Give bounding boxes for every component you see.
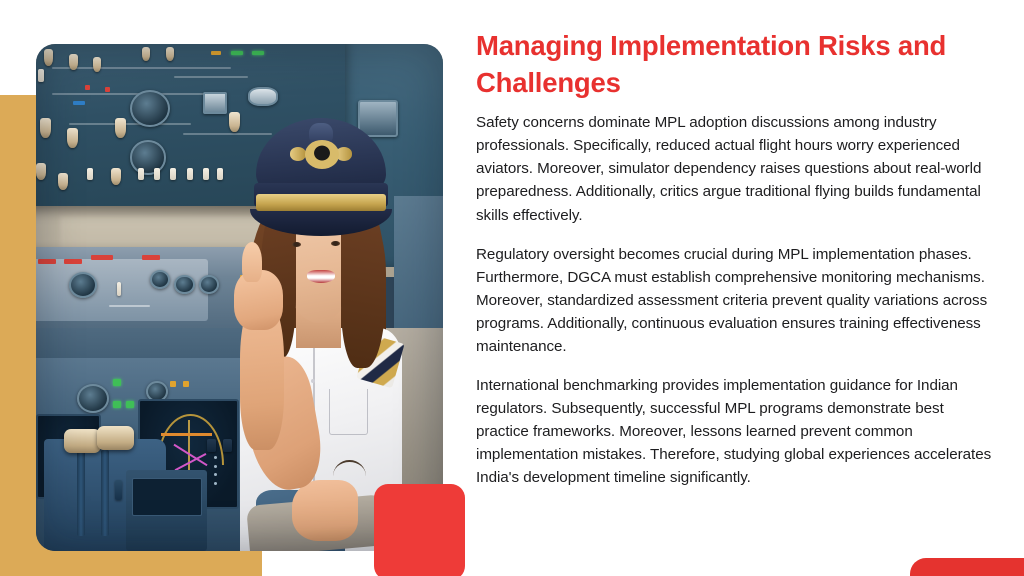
body-paragraph-3: International benchmarking provides impl…	[476, 374, 992, 489]
panel-lever	[117, 282, 121, 296]
panel-gauge	[174, 275, 194, 294]
thumbs-up-gesture	[242, 242, 262, 283]
panel-label-lamp	[142, 255, 160, 260]
panel-line	[52, 93, 207, 95]
keypad-screen	[132, 478, 202, 516]
pedestal-lever	[115, 480, 122, 500]
cap-gold-band	[256, 194, 386, 211]
overhead-switch-knob	[93, 57, 101, 72]
toggle-switch	[203, 168, 209, 180]
indicator-lamp	[170, 381, 176, 387]
indicator-lamp	[113, 379, 121, 386]
overhead-switch-knob	[40, 118, 51, 138]
throttle-stem	[101, 450, 109, 536]
photo-illustration	[36, 44, 443, 551]
panel-label-lamp	[38, 259, 56, 264]
pilot-eye	[292, 242, 301, 247]
body-paragraph-1: Safety concerns dominate MPL adoption di…	[476, 111, 992, 226]
wrist-cord	[333, 460, 366, 492]
overhead-switch-knob	[36, 163, 46, 180]
throttle-lever	[64, 429, 101, 452]
red-accent-square	[374, 484, 465, 576]
flight-management-keypad	[126, 470, 207, 551]
toggle-switch	[38, 69, 44, 82]
overhead-gauge	[130, 140, 167, 174]
content-column: Managing Implementation Risks and Challe…	[476, 28, 992, 490]
throttle-lever	[97, 426, 134, 449]
toggle-switch	[154, 168, 160, 180]
cockpit-pilot-photo	[36, 44, 443, 551]
panel-label-lamp	[91, 255, 113, 260]
indicator-lamp	[73, 101, 85, 105]
body-paragraph-2: Regulatory oversight becomes crucial dur…	[476, 243, 992, 358]
pedestal-knob	[207, 439, 216, 452]
warning-lamp	[105, 87, 110, 92]
indicator-lamp	[183, 381, 189, 387]
panel-line	[183, 133, 273, 135]
overhead-switch-knob	[115, 118, 126, 138]
indicator-lamp	[231, 51, 243, 55]
overhead-gauge	[130, 90, 171, 127]
toggle-switch	[187, 168, 193, 180]
overhead-switch-knob	[142, 47, 150, 61]
overhead-display	[248, 87, 278, 106]
indicator-lamp	[252, 51, 264, 55]
overhead-switch-knob	[44, 49, 53, 66]
indicator-lamp	[126, 401, 134, 408]
pilot-eye	[331, 241, 340, 246]
pfd-scale-dot	[214, 465, 217, 468]
heading-selector	[77, 384, 109, 413]
slide-canvas: Managing Implementation Risks and Challe…	[0, 0, 1024, 576]
toggle-switch	[138, 168, 144, 180]
overhead-switch-knob	[166, 47, 174, 61]
panel-label-lamp	[64, 259, 82, 264]
indicator-lamp	[211, 51, 221, 55]
pfd-scale-dot	[214, 482, 217, 485]
cap-badge-wing-left-icon	[290, 147, 306, 160]
throttle-stem	[77, 450, 85, 536]
pfd-horizon-bar	[161, 433, 212, 436]
shirt-pocket	[329, 389, 368, 436]
pilot-smile	[307, 270, 335, 283]
page-title: Managing Implementation Risks and Challe…	[476, 28, 992, 101]
panel-line	[52, 67, 231, 69]
panel-line	[69, 123, 191, 125]
overhead-display	[203, 92, 227, 114]
pedestal-knob	[223, 439, 232, 452]
overhead-switch-knob	[69, 54, 78, 70]
toggle-switch	[87, 168, 93, 180]
indicator-lamp	[113, 401, 121, 408]
warning-lamp	[85, 85, 90, 90]
toggle-switch	[217, 168, 223, 180]
toggle-switch	[170, 168, 176, 180]
panel-line	[109, 305, 150, 307]
pfd-scale-dot	[214, 473, 217, 476]
shirt-button	[311, 379, 315, 383]
cap-badge-icon	[305, 140, 340, 168]
red-accent-corner-shape	[910, 558, 1024, 576]
overhead-switch-knob	[67, 128, 78, 148]
